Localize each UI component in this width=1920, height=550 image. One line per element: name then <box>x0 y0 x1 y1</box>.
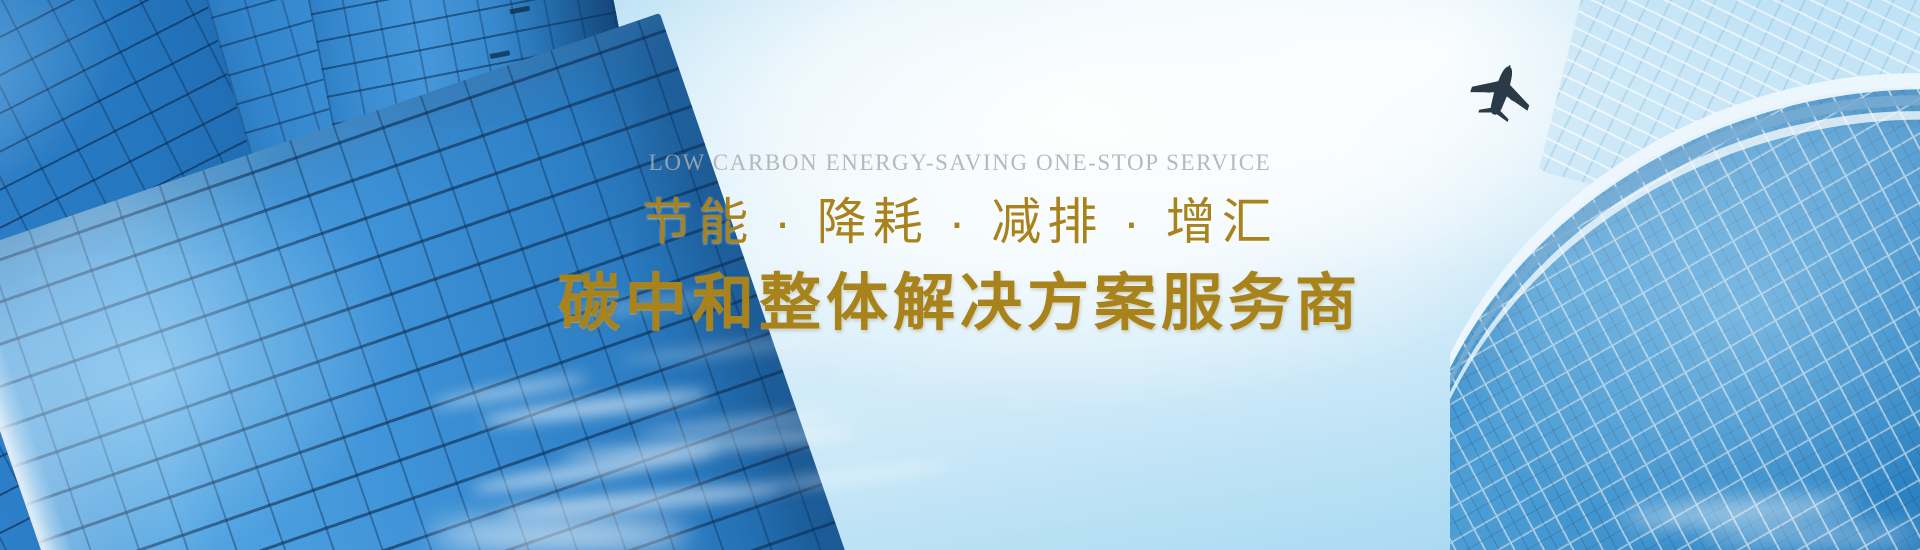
cirrus-streak <box>430 520 690 550</box>
cirrus-streak <box>1700 525 1920 545</box>
hero-banner: LOW CARBON ENERGY-SAVING ONE-STOP SERVIC… <box>0 0 1920 550</box>
